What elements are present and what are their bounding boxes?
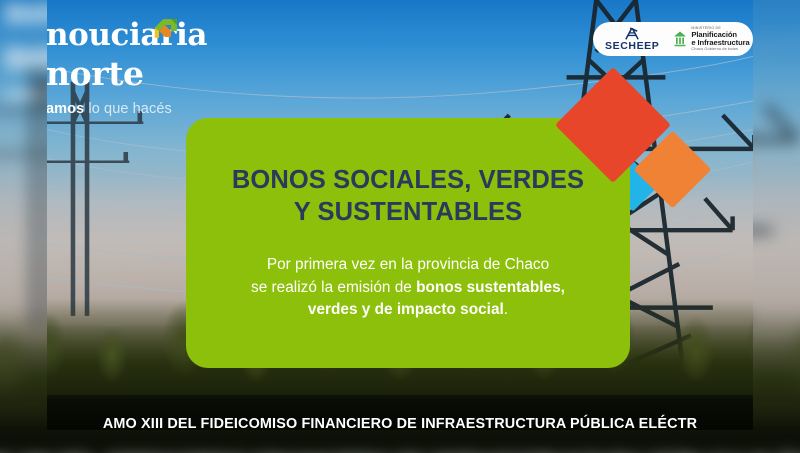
house-pillars-icon xyxy=(673,30,687,47)
tagline-bold: amos xyxy=(47,101,84,117)
institutional-logo-pill[interactable]: SECHEEP MINISTERIO DE Planificación e I xyxy=(593,22,753,56)
card-body-text: Por primera vez en la provincia de Chaco… xyxy=(251,254,565,321)
chevron-arrow-mark-icon xyxy=(148,14,182,48)
media-logo-tagline: amos lo que hacés xyxy=(47,101,250,117)
caption-bar: AMO XIII DEL FIDEICOMISO FINANCIERO DE I… xyxy=(47,395,753,430)
body-bold-1: bonos sustentables, xyxy=(416,279,565,296)
ministry-subtitle: Chaco Gobierno de todos xyxy=(691,47,749,51)
transmission-tower-icon xyxy=(622,27,642,40)
caption-text: AMO XIII DEL FIDEICOMISO FINANCIERO DE I… xyxy=(103,416,697,430)
media-logo-line2: norte xyxy=(47,57,250,90)
green-announcement-card: BONOS SOCIALES, VERDES Y SUSTENTABLES Po… xyxy=(186,118,630,368)
foreground-sharp-window: nouciaria norte amos lo que hacés SECHEE… xyxy=(47,0,753,430)
media-logo[interactable]: nouciaria norte amos lo que hacés xyxy=(47,0,250,112)
screenshot-root: nouciaria norte amos lo que hacés BONOS … xyxy=(0,0,800,453)
sharp-content-layer: nouciaria norte amos lo que hacés SECHEE… xyxy=(47,0,753,430)
ministry-logo: MINISTERIO DE Planificación e Infraestru… xyxy=(673,27,749,50)
body-bold-2: verdes y de impacto social xyxy=(308,301,504,318)
ministry-text: MINISTERIO DE Planificación e Infraestru… xyxy=(691,27,749,50)
card-headline: BONOS SOCIALES, VERDES Y SUSTENTABLES xyxy=(232,164,584,228)
body-line-1: Por primera vez en la provincia de Chaco xyxy=(267,256,549,273)
body-period: . xyxy=(504,301,508,318)
secheep-wordmark: SECHEEP xyxy=(605,41,659,52)
secheep-logo: SECHEEP xyxy=(605,27,659,52)
tagline-rest: lo que hacés xyxy=(84,101,172,117)
body-line-2-prefix: se realizó la emisión de xyxy=(251,279,416,296)
